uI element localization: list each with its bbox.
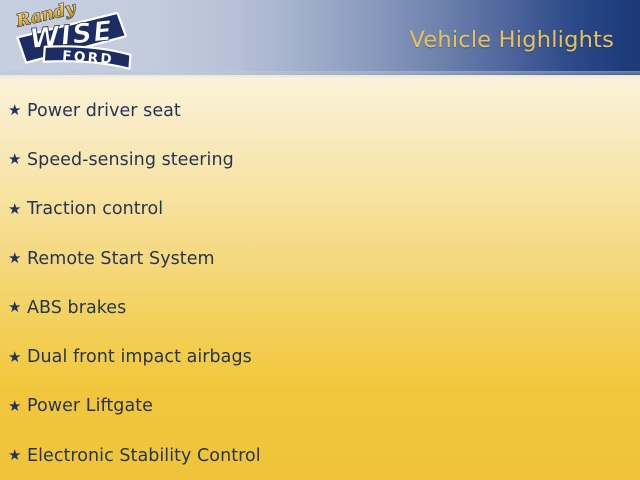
- list-item: ★ Speed-sensing steering: [0, 135, 640, 184]
- star-icon: ★: [8, 251, 27, 266]
- star-icon: ★: [8, 448, 27, 463]
- list-item: ★ Dual front impact airbags: [0, 332, 640, 381]
- list-item: ★ Remote Start System: [0, 234, 640, 283]
- list-item: ★ Power Liftgate: [0, 382, 640, 431]
- star-icon: ★: [8, 103, 27, 118]
- list-item: ★ Power driver seat: [0, 86, 640, 135]
- list-item: ★ ABS brakes: [0, 283, 640, 332]
- star-icon: ★: [8, 350, 27, 365]
- list-item: ★ Traction control: [0, 185, 640, 234]
- highlight-label: Dual front impact airbags: [27, 347, 252, 367]
- vehicle-highlights-list: ★ Power driver seat ★ Speed-sensing stee…: [0, 86, 640, 480]
- logo-ford-text: FORD: [62, 48, 115, 68]
- highlight-label: Remote Start System: [27, 249, 215, 269]
- star-icon: ★: [8, 399, 27, 414]
- logo-graphic: WISE Randy FORD: [6, 2, 134, 74]
- star-icon: ★: [8, 300, 27, 315]
- header-bar: WISE Randy FORD Vehicle Highlights: [0, 0, 640, 75]
- highlight-label: ABS brakes: [27, 298, 126, 318]
- highlight-label: Power Liftgate: [27, 396, 153, 416]
- star-icon: ★: [8, 152, 27, 167]
- star-icon: ★: [8, 202, 27, 217]
- highlight-label: Traction control: [27, 199, 163, 219]
- vehicle-highlights-slide: WISE Randy FORD Vehicle Highlights ★ Pow…: [0, 0, 640, 480]
- randy-wise-ford-logo: WISE Randy FORD: [6, 2, 134, 74]
- page-title: Vehicle Highlights: [409, 27, 614, 53]
- highlight-label: Speed-sensing steering: [27, 150, 234, 170]
- list-item: ★ Electronic Stability Control: [0, 431, 640, 480]
- highlight-label: Power driver seat: [27, 101, 181, 121]
- highlight-label: Electronic Stability Control: [27, 446, 261, 466]
